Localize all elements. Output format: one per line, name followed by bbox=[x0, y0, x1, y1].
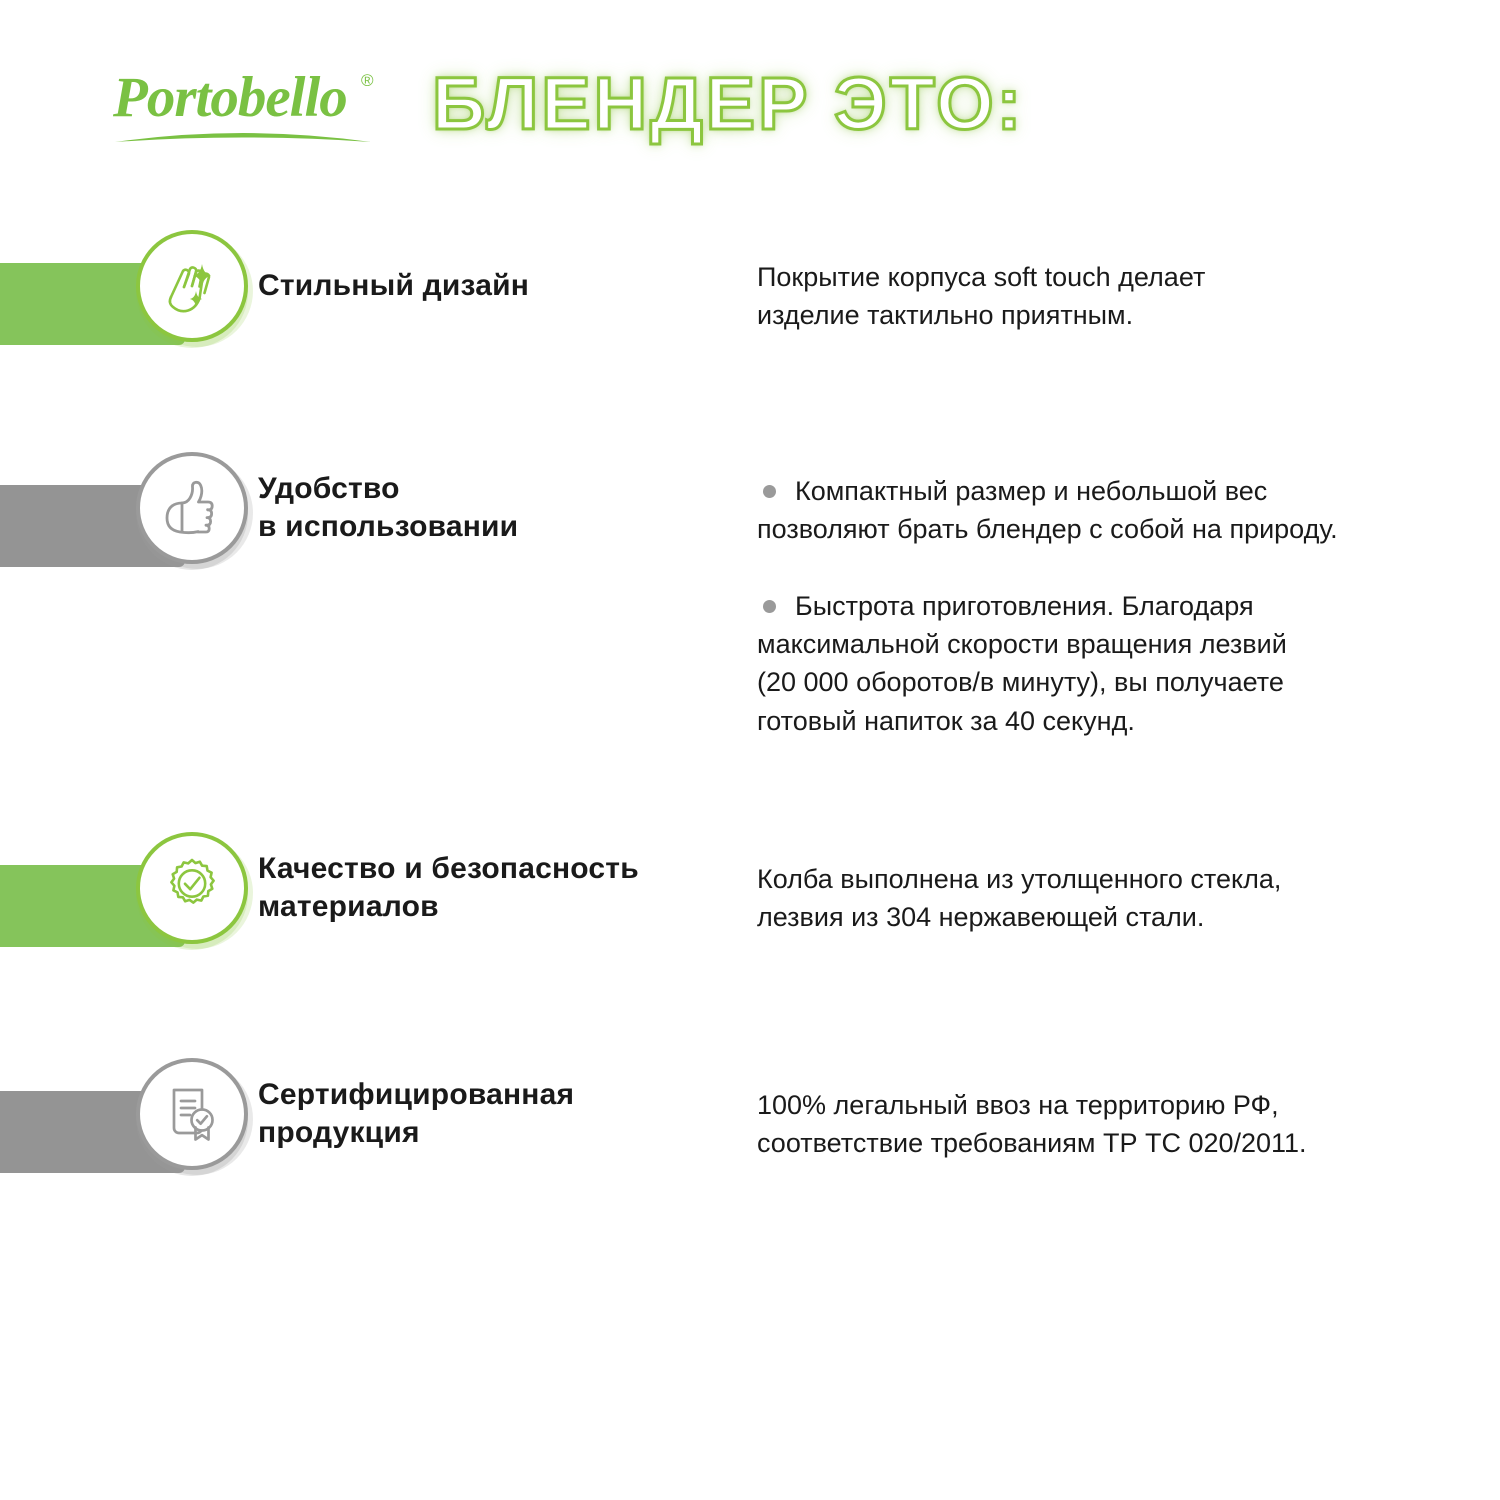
feature-description-line: соответствие требованиям ТР ТС 020/2011. bbox=[757, 1124, 1457, 1162]
feature-row: Качество и безопасность материалов Колба… bbox=[0, 832, 1500, 982]
feature-description-line: Покрытие корпуса soft touch делает bbox=[757, 258, 1457, 296]
feature-row: Стильный дизайн Покрытие корпуса soft to… bbox=[0, 230, 1500, 380]
feature-description-line: Колба выполнена из утолщенного стекла, bbox=[757, 860, 1457, 898]
feature-description-line: лезвия из 304 нержавеющей стали. bbox=[757, 898, 1457, 936]
svg-text:®: ® bbox=[361, 71, 374, 90]
thumbs-up-icon bbox=[136, 452, 248, 564]
feature-row: Сертифицированная продукция 100% легальн… bbox=[0, 1058, 1500, 1208]
feature-title-line: в использовании bbox=[258, 508, 728, 546]
feature-title: Удобство в использовании bbox=[258, 452, 728, 564]
feature-description: 100% легальный ввоз на территорию РФ, со… bbox=[757, 1058, 1457, 1163]
feature-title: Стильный дизайн bbox=[258, 230, 728, 342]
svg-text:Portobello: Portobello bbox=[113, 66, 347, 129]
sparkle-hand-glyph bbox=[159, 253, 225, 319]
feature-description: Покрытие корпуса soft touch делает издел… bbox=[757, 230, 1457, 335]
sparkle-hand-icon bbox=[136, 230, 248, 342]
list-item: Быстрота приготовления. Благодаря максим… bbox=[757, 587, 1477, 740]
quality-badge-icon bbox=[136, 832, 248, 944]
feature-title: Качество и безопасность материалов bbox=[258, 832, 728, 944]
quality-badge-glyph bbox=[159, 855, 225, 921]
feature-title-line: Качество и безопасность bbox=[258, 850, 728, 888]
page-header: Portobello ® БЛЕНДЕР ЭТО: bbox=[0, 0, 1500, 200]
portobello-logo: Portobello ® bbox=[113, 58, 398, 150]
feature-title-line: материалов bbox=[258, 888, 728, 926]
feature-description: Колба выполнена из утолщенного стекла, л… bbox=[757, 832, 1457, 937]
certificate-icon bbox=[136, 1058, 248, 1170]
portobello-logo-mark: Portobello ® bbox=[113, 58, 398, 150]
certificate-glyph bbox=[160, 1082, 224, 1146]
bullet-line: (20 000 оборотов/в минуту), вы получаете bbox=[757, 663, 1477, 701]
page-title: БЛЕНДЕР ЭТО: bbox=[432, 54, 1024, 154]
infographic-page: Portobello ® БЛЕНДЕР ЭТО: Стильный дизай… bbox=[0, 0, 1500, 1500]
feature-title-line: Удобство bbox=[258, 470, 728, 508]
feature-bullet-list: Компактный размер и небольшой вес позвол… bbox=[757, 472, 1477, 740]
feature-row: Удобство в использовании Компактный разм… bbox=[0, 452, 1500, 602]
bullet-line: позволяют брать блендер с собой на приро… bbox=[757, 510, 1477, 548]
bullet-line: Быстрота приготовления. Благодаря bbox=[795, 587, 1477, 625]
feature-description-line: 100% легальный ввоз на территорию РФ, bbox=[757, 1086, 1457, 1124]
feature-title: Сертифицированная продукция bbox=[258, 1058, 728, 1170]
page-title-text: БЛЕНДЕР ЭТО: bbox=[432, 67, 1024, 141]
bullet-dot-icon bbox=[763, 600, 776, 613]
bullet-line: максимальной скорости вращения лезвий bbox=[757, 625, 1477, 663]
bullet-line: Компактный размер и небольшой вес bbox=[795, 472, 1477, 510]
feature-description-line: изделие тактильно приятным. bbox=[757, 296, 1457, 334]
bullet-line: готовый напиток за 40 секунд. bbox=[757, 702, 1477, 740]
thumbs-up-glyph bbox=[160, 476, 224, 540]
list-item: Компактный размер и небольшой вес позвол… bbox=[757, 472, 1477, 549]
feature-title-line: продукция bbox=[258, 1114, 728, 1152]
feature-title-line: Стильный дизайн bbox=[258, 267, 728, 305]
bullet-dot-icon bbox=[763, 485, 776, 498]
feature-title-line: Сертифицированная bbox=[258, 1076, 728, 1114]
